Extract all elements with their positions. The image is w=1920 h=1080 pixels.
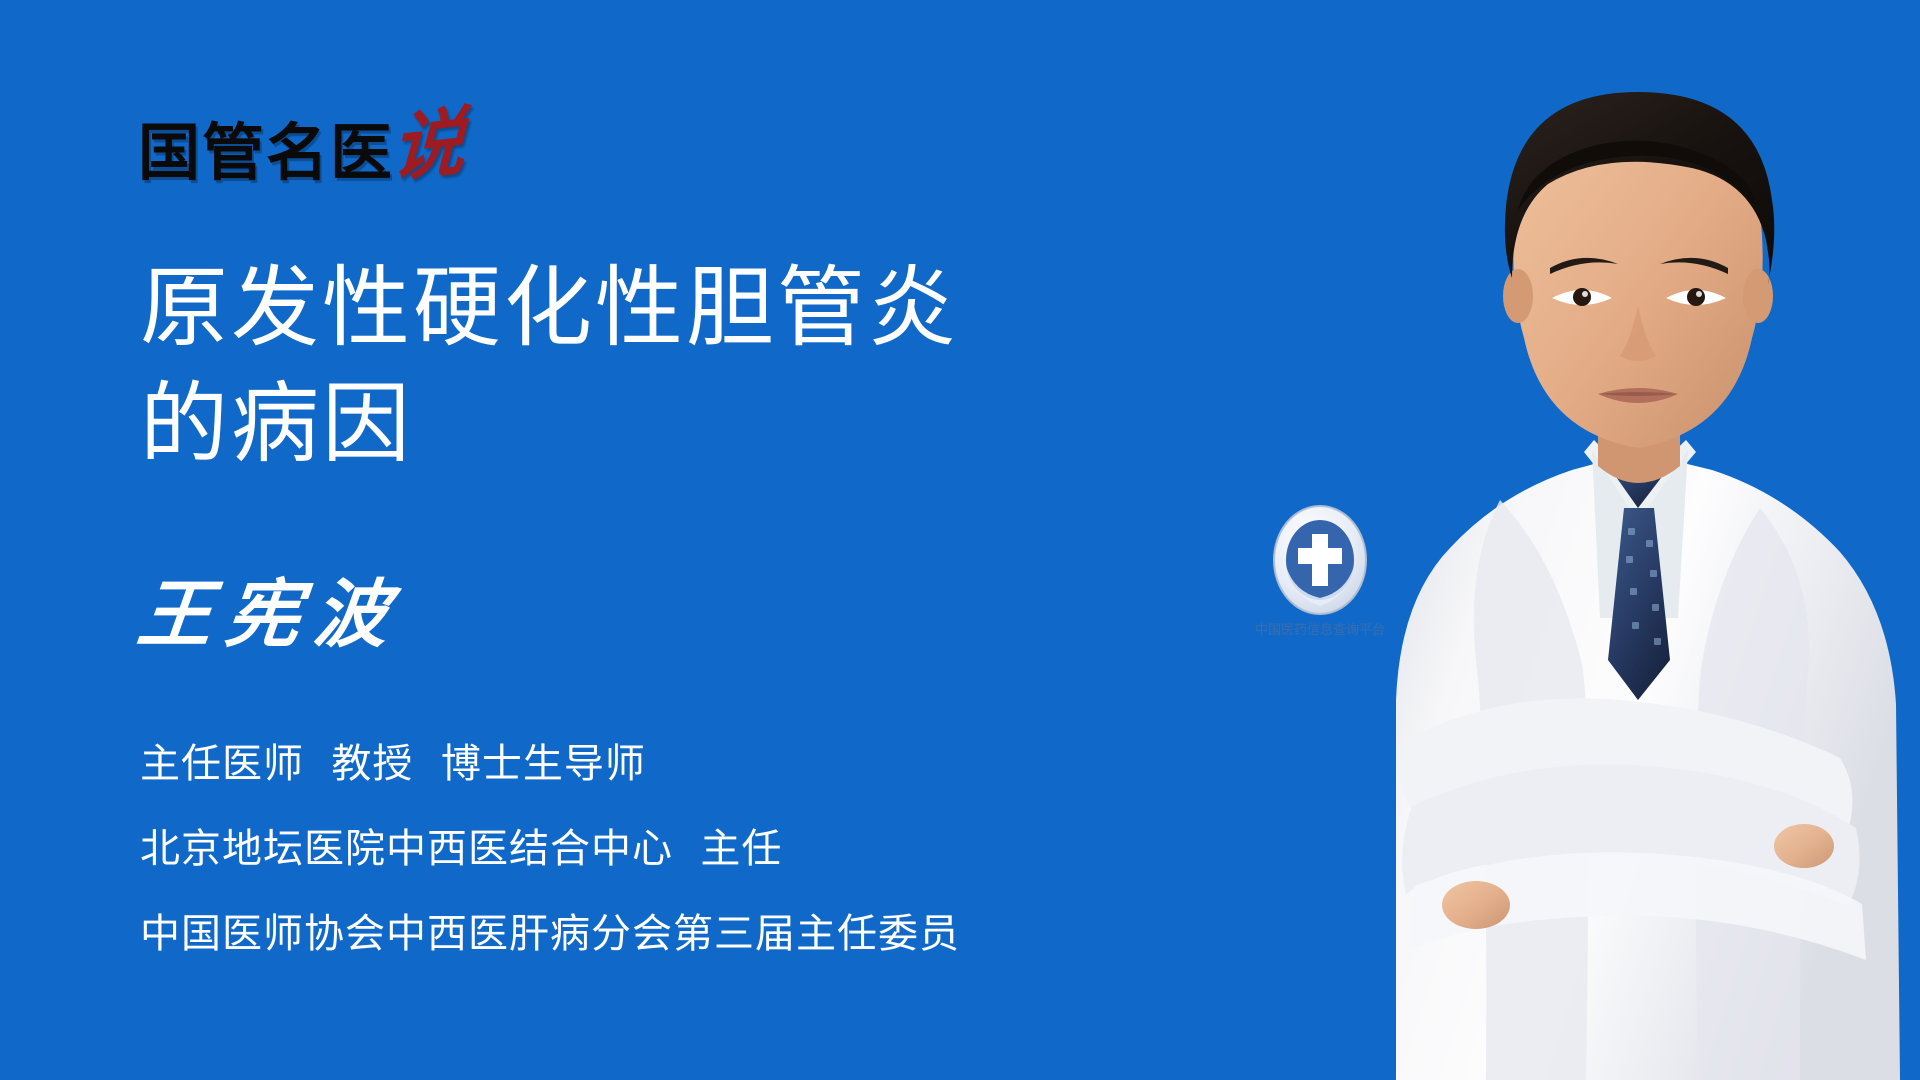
program-logo: 国管名医 说: [138, 108, 464, 184]
doctor-credentials: 主任医师 教授 博士生导师 北京地坛医院中西医结合中心 主任 中国医师协会中西医…: [140, 722, 1200, 978]
doctor-portrait-photo: 中国医药信息查询平台: [1200, 0, 1920, 1080]
credential-line-2: 北京地坛医院中西医结合中心 主任: [140, 807, 1200, 892]
headline: 原发性硬化性胆管炎 的病因: [140, 250, 1140, 482]
doctor-name: 王宪波: [134, 578, 406, 652]
credential-line-3: 中国医师协会中西医肝病分会第三届主任委员: [140, 892, 1200, 977]
slide-canvas: 国管名医 说 原发性硬化性胆管炎 的病因 王宪波 主任医师 教授 博士生导师 北…: [0, 0, 1920, 1080]
program-logo-main-text: 国管名医: [138, 122, 394, 184]
headline-line-2: 的病因: [140, 366, 1140, 482]
program-logo-accent-text: 说: [390, 108, 466, 184]
headline-line-1: 原发性硬化性胆管炎: [140, 250, 1140, 366]
svg-text:中国医药信息查询平台: 中国医药信息查询平台: [1255, 622, 1385, 638]
credential-line-1: 主任医师 教授 博士生导师: [140, 722, 1200, 807]
